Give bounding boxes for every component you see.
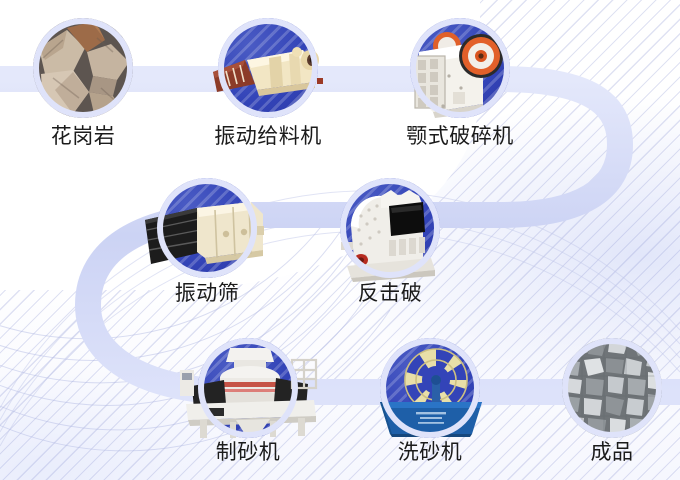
node-label-jaw-crusher: 颚式破碎机 <box>377 126 543 147</box>
crushed-gravel-photo-icon <box>562 338 662 438</box>
process-flow-diagram: 花岗岩 <box>0 0 680 480</box>
node-label-vibrating-screen: 振动筛 <box>124 283 290 304</box>
vibrating-screen-machine-icon <box>141 200 269 279</box>
granite-rocks-photo-icon <box>33 18 133 118</box>
node-label-granite: 花岗岩 <box>0 126 166 147</box>
jaw-crusher-machine-icon <box>409 26 513 123</box>
node-label-sand-washer: 洗砂机 <box>347 442 513 463</box>
node-label-impact-crusher: 反击破 <box>307 283 473 304</box>
node-label-sand-maker: 制砂机 <box>165 442 331 463</box>
impact-crusher-machine-icon <box>337 186 443 287</box>
node-label-vibrating-feeder: 振动给料机 <box>185 126 351 147</box>
vibrating-feeder-machine-icon <box>211 38 327 107</box>
sand-making-machine-icon <box>178 342 320 445</box>
sand-washing-machine-icon <box>374 346 490 443</box>
node-label-finished-product: 成品 <box>529 442 680 463</box>
